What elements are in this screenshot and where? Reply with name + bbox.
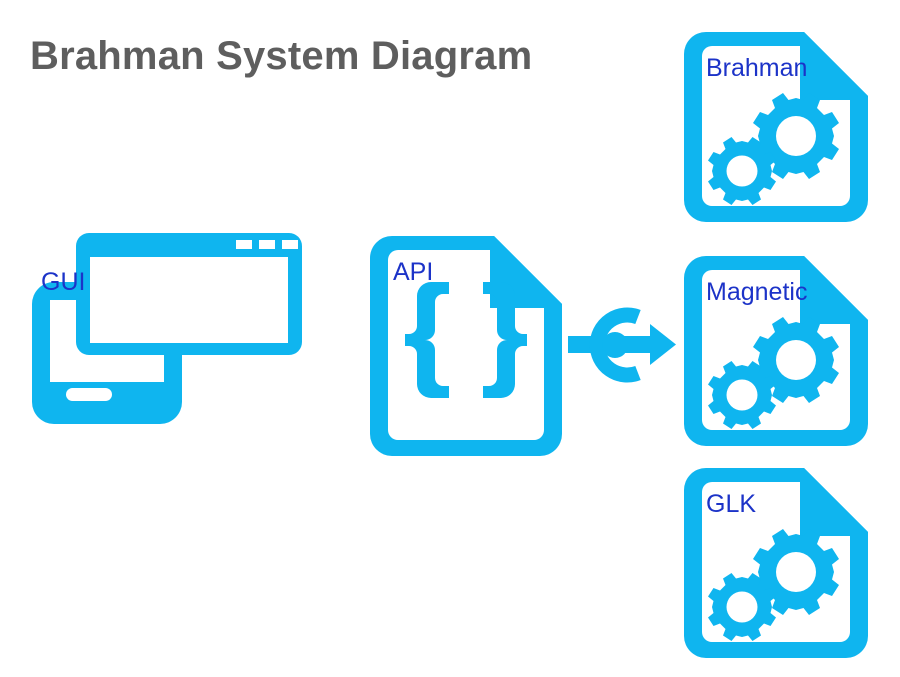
node-glk[interactable]: GLK	[680, 464, 872, 660]
window-button-close	[282, 240, 298, 249]
folded-corner	[804, 32, 868, 96]
connector-api-to-modules	[568, 300, 678, 390]
node-magnetic[interactable]: Magnetic	[680, 252, 872, 448]
circular-process-arrow-icon	[568, 300, 678, 390]
node-brahman[interactable]: Brahman	[680, 28, 872, 224]
browser-window-and-tablet-icon	[14, 228, 314, 450]
window-button-maximize	[259, 240, 275, 249]
node-gui[interactable]: GUI	[14, 228, 314, 450]
node-glk-label: GLK	[706, 492, 756, 517]
folded-corner	[804, 256, 868, 320]
window-button-minimize	[236, 240, 252, 249]
page-title: Brahman System Diagram	[30, 33, 532, 79]
folded-corner	[804, 468, 868, 532]
node-api[interactable]: API	[366, 232, 566, 458]
node-gui-label: GUI	[41, 270, 85, 295]
node-brahman-label: Brahman	[706, 56, 807, 81]
diagram-canvas: Brahman System Diagram GUI	[0, 0, 900, 677]
node-magnetic-label: Magnetic	[706, 280, 807, 305]
arrow-head	[650, 324, 676, 365]
node-api-label: API	[393, 260, 433, 285]
browser-window-icon	[76, 233, 302, 355]
